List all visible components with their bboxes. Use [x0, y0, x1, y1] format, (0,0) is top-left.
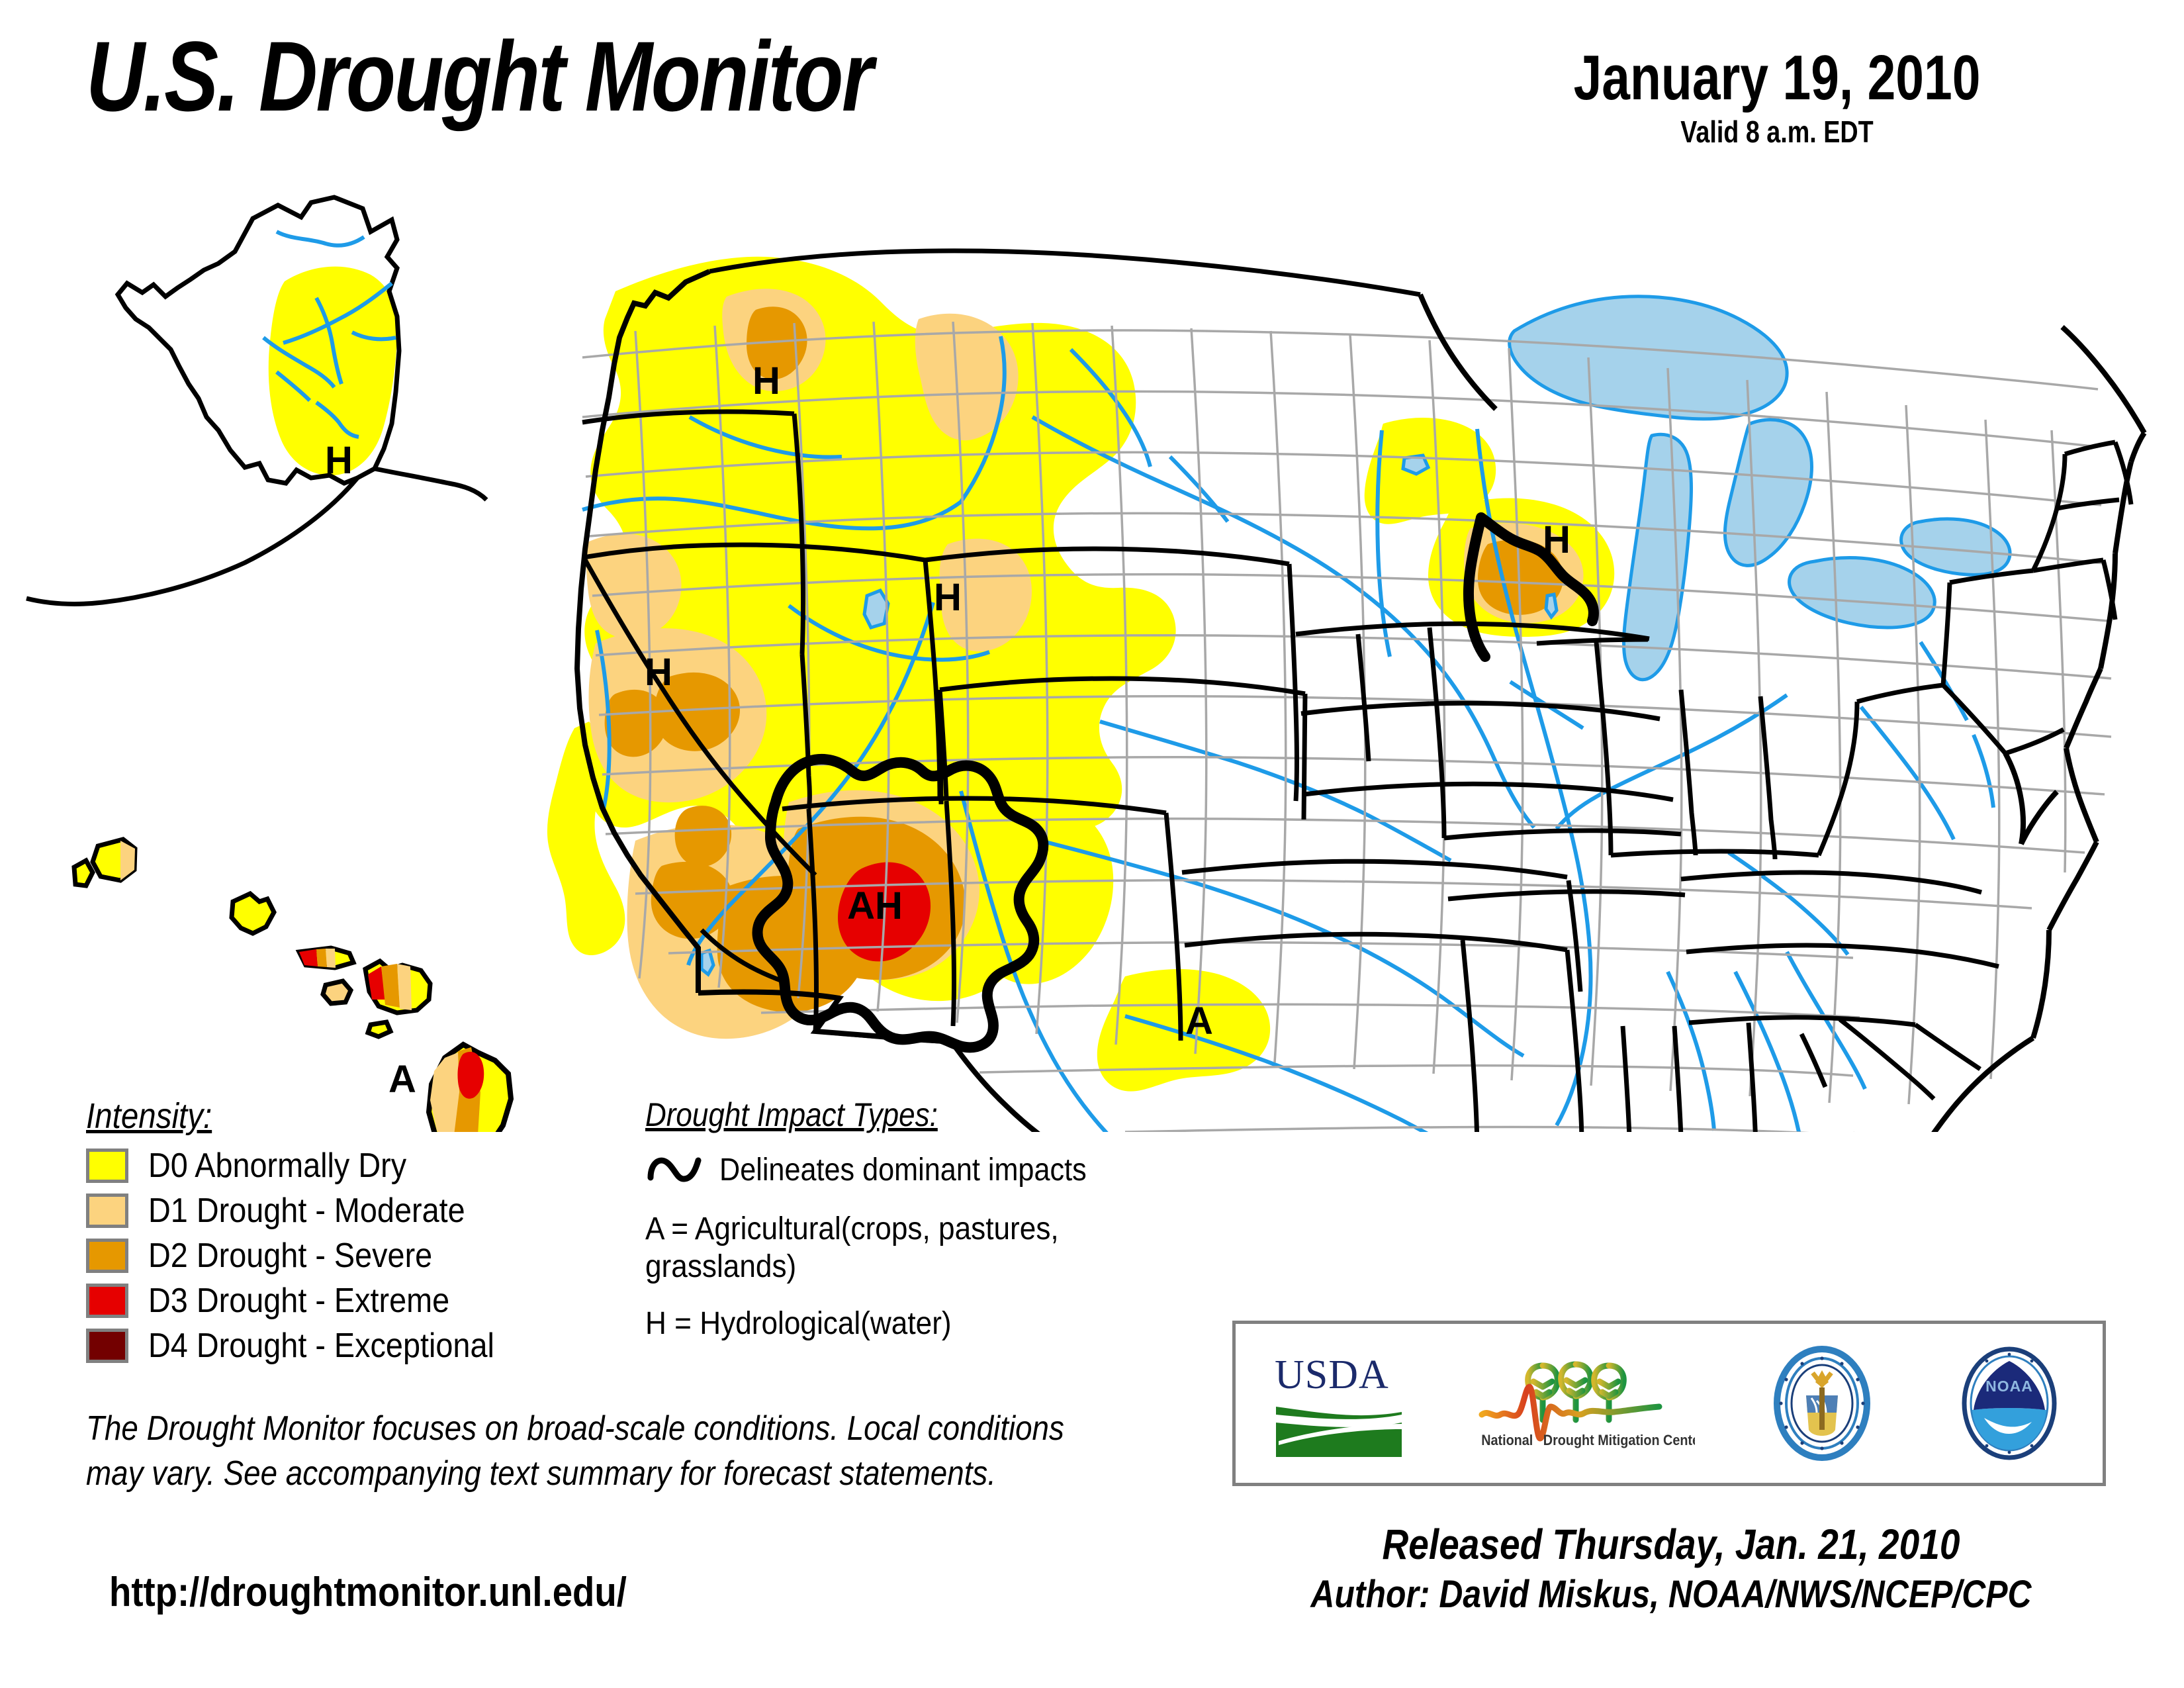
legend-swatch-d3 [86, 1284, 128, 1318]
hi-oahu [232, 894, 274, 933]
release-block: Released Thursday, Jan. 21, 2010 Author:… [1231, 1523, 2111, 1615]
hi-kauai [93, 839, 135, 880]
map-date: January 19, 2010 [1557, 46, 1997, 110]
delineation-row: Delineates dominant impacts [645, 1151, 1161, 1188]
author-credit: Author: David Miskus, NOAA/NWS/NCEP/CPC [1293, 1575, 2050, 1615]
legend-label-d1: D1 Drought - Moderate [148, 1191, 465, 1231]
intensity-legend: Intensity: D0 Abnormally Dry D1 Drought … [86, 1096, 533, 1370]
impact-label-sw-ah: AH [847, 884, 903, 927]
lake-superior [1510, 297, 1787, 419]
ndmc-logo: National Drought Mitigation Center [1477, 1324, 1695, 1483]
noaa-seal-logo: NOAA [1950, 1324, 2069, 1483]
impact-label-mn-h: H [1543, 518, 1570, 561]
impact-def-agricultural: A = Agricultural(crops, pastures, grassl… [645, 1211, 1120, 1286]
svg-text:NOAA: NOAA [1985, 1378, 2033, 1395]
intensity-heading: Intensity: [86, 1096, 479, 1137]
hi-molokai [299, 948, 353, 968]
legend-swatch-d1 [86, 1194, 128, 1228]
hawaii-inset: A [74, 839, 511, 1132]
logo-box: USDA [1232, 1321, 2106, 1486]
impact-label-ok-a: A [1185, 1000, 1213, 1043]
hi-maui [365, 961, 430, 1013]
release-date: Released Thursday, Jan. 21, 2010 [1293, 1523, 2050, 1567]
legend-label-d0: D0 Abnormally Dry [148, 1146, 406, 1186]
impact-label-wa-h: H [752, 359, 780, 402]
doc-seal-logo [1762, 1324, 1882, 1483]
impact-label-id-h: H [934, 576, 962, 619]
date-block: January 19, 2010 Valid 8 a.m. EDT [1502, 46, 2052, 150]
legend-row-d1: D1 Drought - Moderate [86, 1190, 533, 1232]
svg-text:Drought Mitigation Center: Drought Mitigation Center [1543, 1432, 1695, 1448]
usda-logo: USDA [1269, 1324, 1408, 1483]
legend-row-d4: D4 Drought - Exceptional [86, 1325, 533, 1367]
legend-label-d3: D3 Drought - Extreme [148, 1281, 449, 1321]
ak-panhandle [375, 469, 486, 500]
great-salt-lake [864, 590, 888, 628]
hi-kahoolawe [368, 1022, 390, 1037]
legend-label-d4: D4 Drought - Exceptional [148, 1326, 494, 1366]
drought-map: H [0, 139, 2184, 1132]
salton-sea [702, 951, 713, 974]
impact-def-hydrological: H = Hydrological(water) [645, 1305, 1120, 1343]
alaska-inset: H [26, 197, 486, 604]
legend-swatch-d0 [86, 1149, 128, 1183]
svg-text:National: National [1481, 1432, 1533, 1448]
page-title: U.S. Drought Monitor [86, 26, 872, 126]
svg-text:USDA: USDA [1275, 1352, 1389, 1397]
squiggle-icon [645, 1151, 702, 1188]
impact-types-heading: Drought Impact Types: [645, 1096, 1099, 1134]
lake-winnebago [1546, 594, 1557, 617]
legend-label-d2: D2 Drought - Severe [148, 1236, 432, 1276]
lake-huron [1725, 420, 1811, 565]
legend-row-d3: D3 Drought - Extreme [86, 1280, 533, 1322]
impact-label-nv-h: H [645, 651, 672, 694]
legend-row-d2: D2 Drought - Severe [86, 1235, 533, 1277]
d0-wtx [1097, 969, 1270, 1092]
hi-impact-label-a: A [388, 1058, 416, 1101]
legend-swatch-d2 [86, 1239, 128, 1273]
website-url[interactable]: http://droughtmonitor.unl.edu/ [109, 1569, 627, 1616]
impact-types-legend: Drought Impact Types: Delineates dominan… [645, 1096, 1161, 1363]
disclaimer-text: The Drought Monitor focuses on broad-sca… [86, 1407, 1076, 1496]
legend-row-d0: D0 Abnormally Dry [86, 1145, 533, 1187]
conus: H H H AH H A H [547, 251, 2144, 1132]
hi-niihau [74, 861, 93, 886]
legend-swatch-d4 [86, 1329, 128, 1363]
ak-impact-label-h: H [325, 439, 353, 482]
delineation-text: Delineates dominant impacts [719, 1152, 1087, 1188]
ak-aleutians [26, 478, 357, 604]
hi-lanai [323, 981, 351, 1004]
